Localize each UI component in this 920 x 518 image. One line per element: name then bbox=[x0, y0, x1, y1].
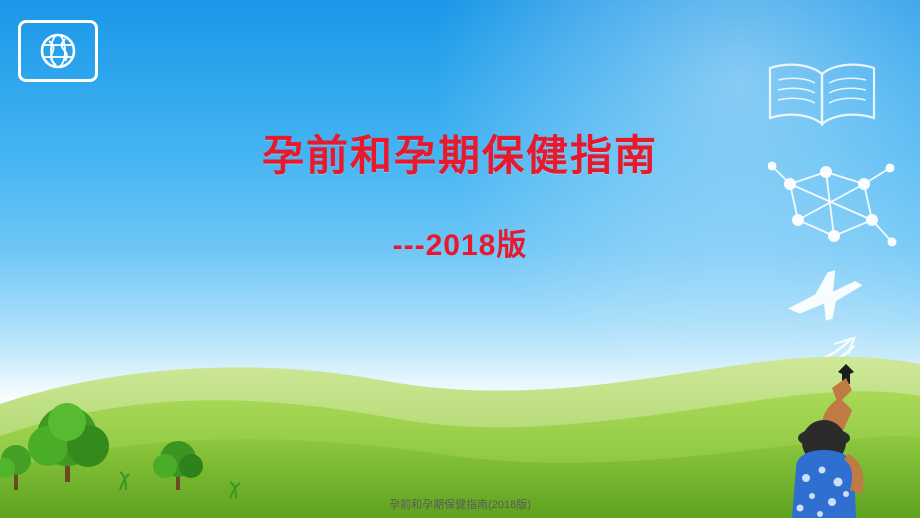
slide-canvas: 孕前和孕期保健指南 ---2018版 bbox=[0, 0, 920, 518]
globe-logo bbox=[18, 20, 98, 82]
page-subtitle: ---2018版 bbox=[0, 220, 920, 264]
globe-icon bbox=[35, 29, 81, 73]
page-title: 孕前和孕期保健指南 bbox=[0, 122, 920, 183]
landscape-illustration bbox=[0, 318, 920, 518]
footer-caption: 孕前和孕期保健指南(2018版) bbox=[0, 496, 920, 512]
